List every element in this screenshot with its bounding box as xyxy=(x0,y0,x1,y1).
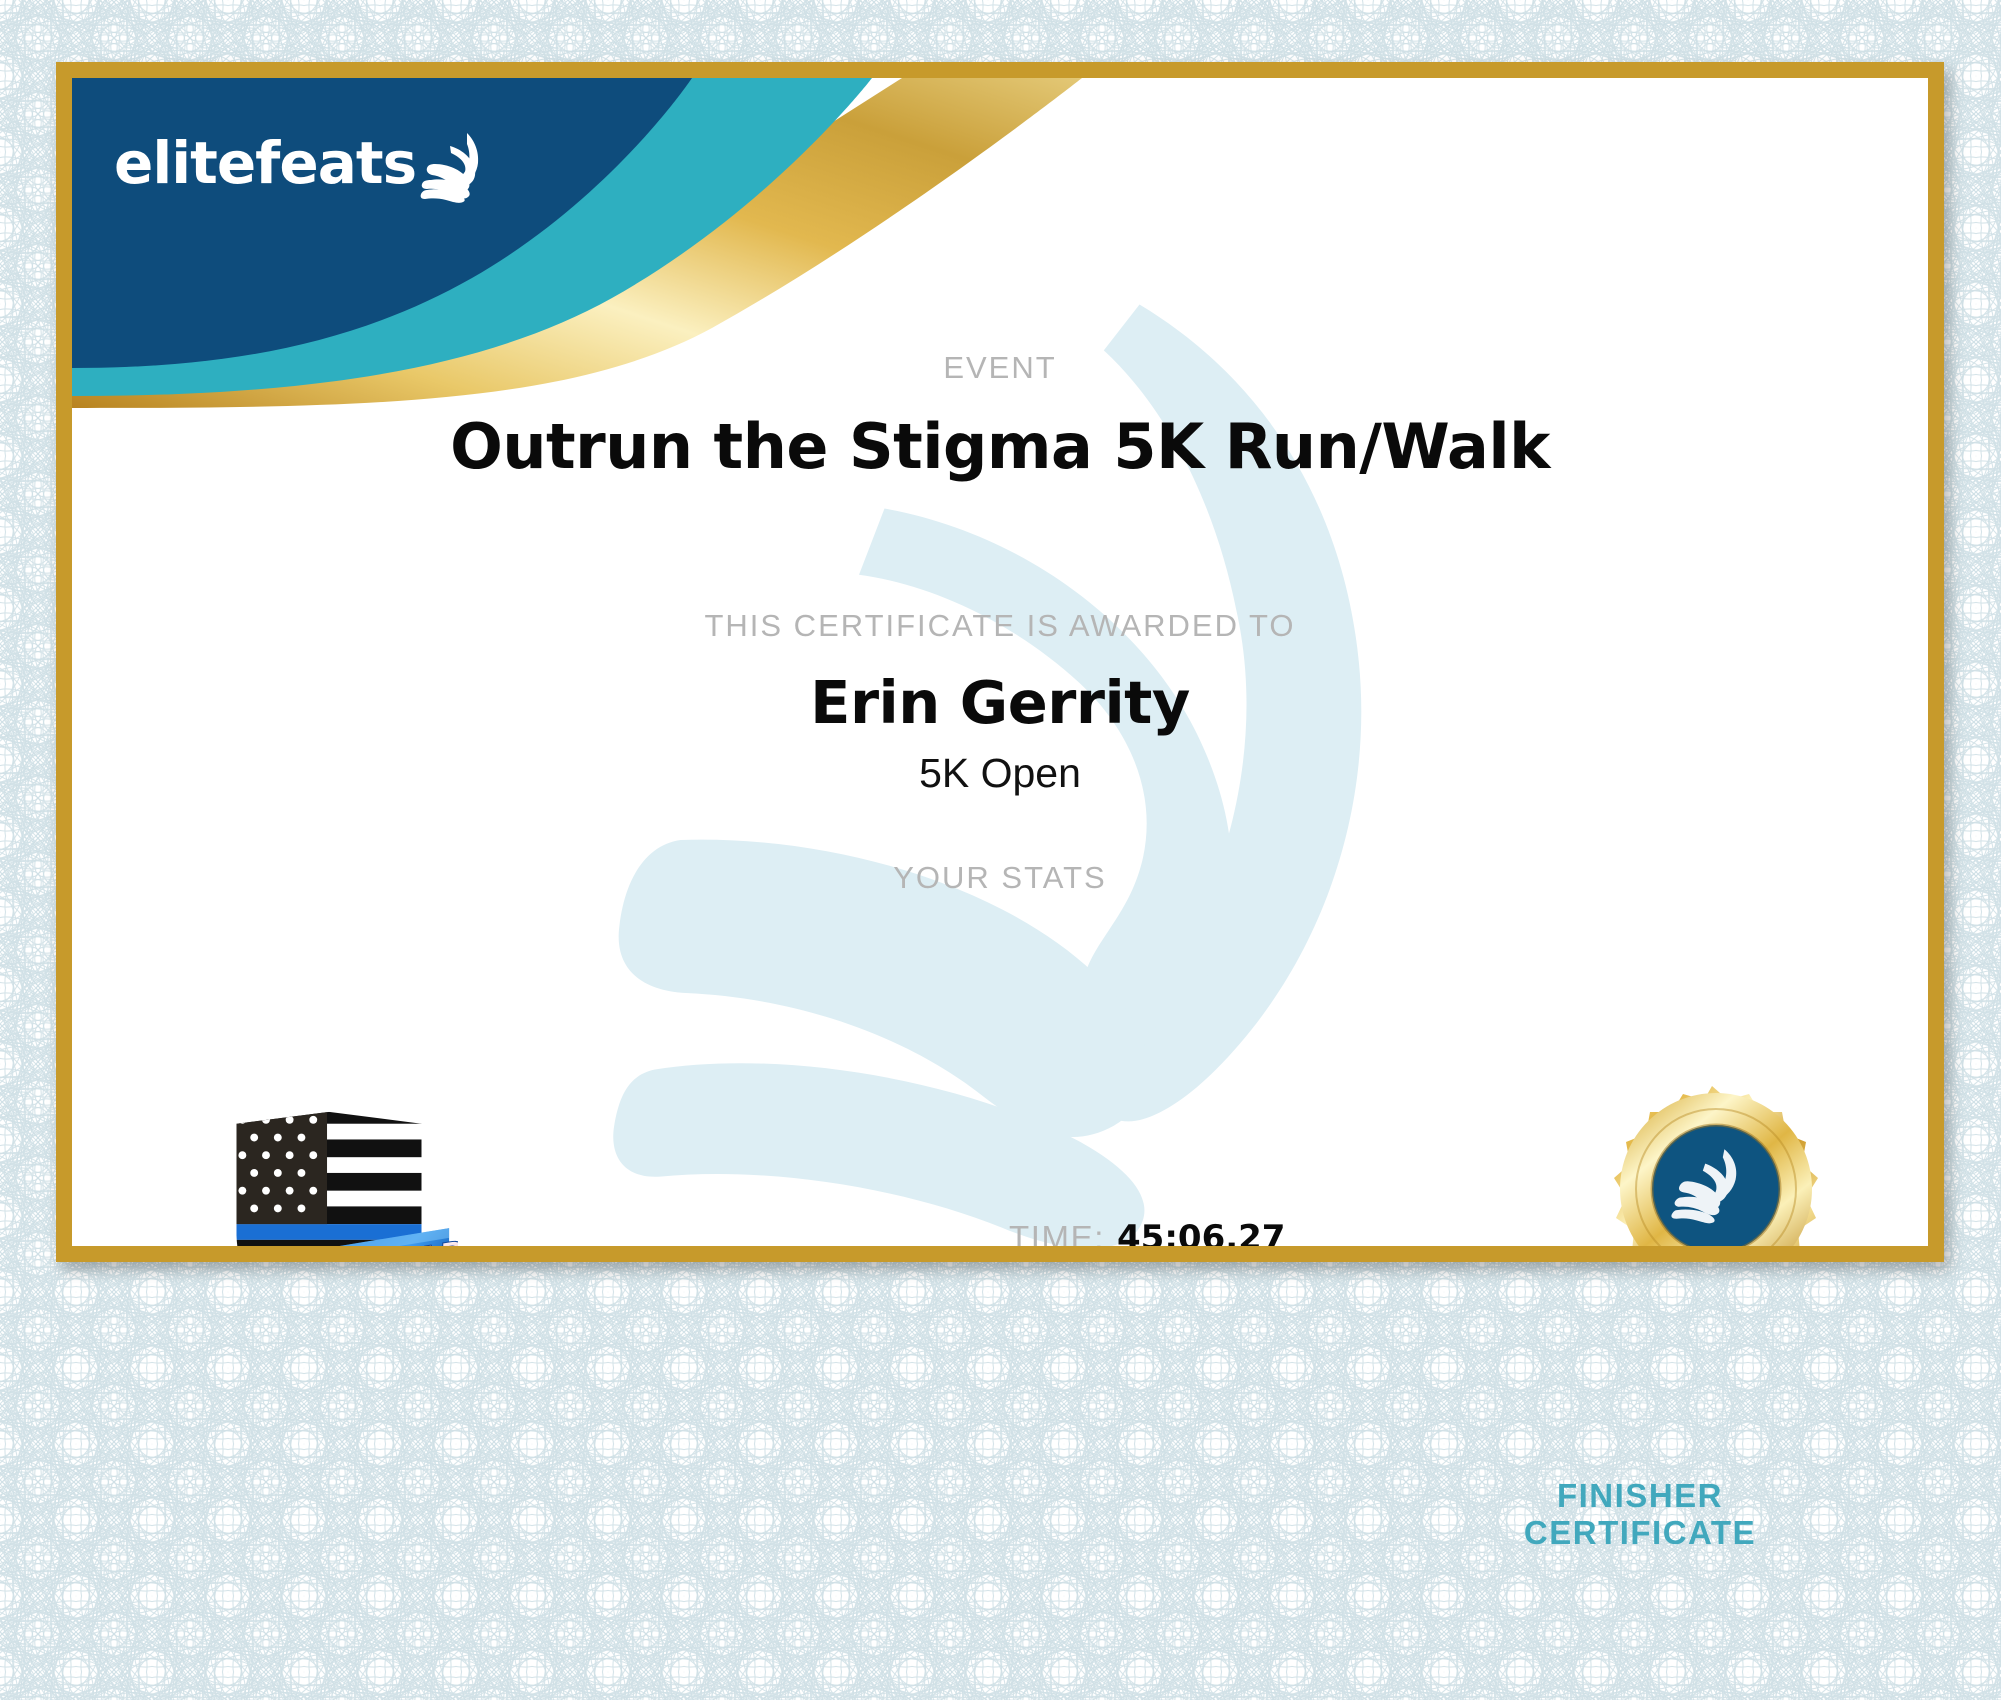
stat-row-time: TIME: 45:06.27 xyxy=(402,1218,1302,1246)
event-label-row: EVENT xyxy=(72,350,1928,386)
caption-line-1: FINISHER xyxy=(1450,1478,1830,1515)
recipient-name-row: Erin Gerrity xyxy=(72,668,1928,737)
certificate-page: elitefeats EVENT Outrun the Stigma 5K Ru… xyxy=(0,0,2001,1700)
winged-foot-icon xyxy=(420,130,490,204)
elitefeats-wordmark: elitefeats xyxy=(114,134,416,192)
event-label: EVENT xyxy=(943,350,1056,385)
awarded-label-row: THIS CERTIFICATE IS AWARDED TO xyxy=(72,608,1928,644)
beyond-the-badge-logo: BEYOND the BADGE ® xyxy=(200,1106,458,1246)
medal-rosette xyxy=(1614,1086,1818,1246)
certificate-body: elitefeats EVENT Outrun the Stigma 5K Ru… xyxy=(72,78,1928,1246)
event-name-row: Outrun the Stigma 5K Run/Walk xyxy=(72,410,1928,483)
caption-line-2: CERTIFICATE xyxy=(1450,1515,1830,1552)
division-row: 5K Open xyxy=(72,750,1928,797)
finisher-medal: 2025 xyxy=(1562,1078,1862,1246)
stats-heading-row: YOUR STATS xyxy=(72,860,1928,896)
stats-heading: YOUR STATS xyxy=(893,860,1106,895)
awarded-label: THIS CERTIFICATE IS AWARDED TO xyxy=(704,608,1295,643)
stat-label: TIME: xyxy=(1009,1219,1105,1246)
recipient-name: Erin Gerrity xyxy=(810,668,1190,737)
elitefeats-logo: elitefeats xyxy=(114,130,490,192)
event-name: Outrun the Stigma 5K Run/Walk xyxy=(450,410,1550,483)
stats-list: TIME: 45:06.27 AGE GROUP PLACE: 4 of 4 O… xyxy=(402,1218,1302,1246)
stat-value: 45:06.27 xyxy=(1117,1218,1302,1246)
certificate-frame: elitefeats EVENT Outrun the Stigma 5K Ru… xyxy=(56,62,1944,1262)
finisher-certificate-caption: FINISHER CERTIFICATE xyxy=(1450,1478,1830,1552)
division-label: 5K Open xyxy=(919,750,1081,796)
